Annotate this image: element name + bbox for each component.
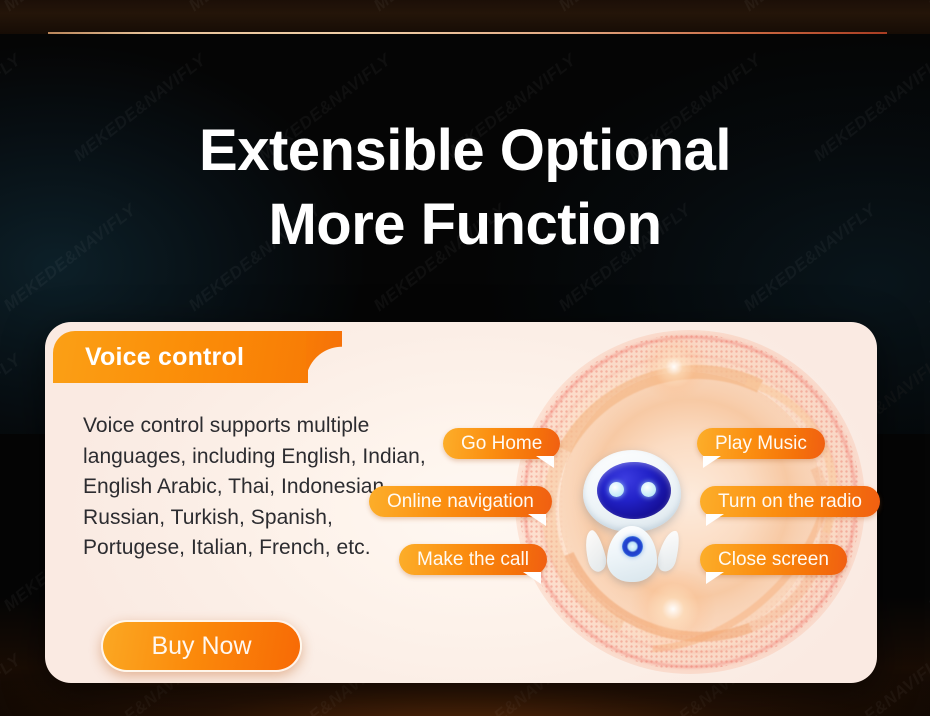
page-title-line-1: Extensible Optional — [0, 114, 930, 188]
feature-pill-make-the-call-label: Make the call — [399, 549, 547, 571]
robot-wing-left — [581, 528, 609, 573]
feature-pill-play-music[interactable]: Play Music — [697, 428, 825, 459]
buy-now-label: Buy Now — [151, 632, 251, 661]
feature-pill-go-home-label: Go Home — [443, 433, 560, 455]
buy-now-button[interactable]: Buy Now — [101, 620, 302, 672]
robot-eye-right — [641, 482, 656, 497]
halo-spark-top — [639, 332, 709, 402]
feature-pill-go-home[interactable]: Go Home — [443, 428, 560, 459]
tab-voice-control-label: Voice control — [85, 343, 244, 372]
promo-page: MEKEDE&NAVIFLYMEKEDE&NAVIFLYMEKEDE&NAVIF… — [0, 0, 930, 716]
robot-assistant-icon — [580, 450, 684, 580]
feature-pill-turn-on-the-radio-label: Turn on the radio — [700, 491, 880, 513]
robot-body — [607, 526, 657, 582]
robot-chest-emblem — [622, 536, 643, 557]
page-title: Extensible Optional More Function — [0, 114, 930, 262]
feature-pill-close-screen[interactable]: Close screen — [700, 544, 847, 575]
robot-eye-left — [609, 482, 624, 497]
robot-head — [583, 450, 681, 532]
robot-visor — [597, 462, 671, 519]
feature-pill-online-navigation[interactable]: Online navigation — [369, 486, 552, 517]
feature-pill-make-the-call[interactable]: Make the call — [399, 544, 547, 575]
top-divider-rule — [48, 32, 887, 34]
feature-pill-play-music-label: Play Music — [697, 433, 825, 455]
feature-pill-online-navigation-label: Online navigation — [369, 491, 552, 513]
feature-pill-close-screen-label: Close screen — [700, 549, 847, 571]
page-title-line-2: More Function — [0, 188, 930, 262]
feature-pill-turn-on-the-radio[interactable]: Turn on the radio — [700, 486, 880, 517]
robot-wing-right — [655, 528, 683, 573]
background-warm-top — [0, 0, 930, 34]
tab-voice-control[interactable]: Voice control — [53, 331, 308, 383]
